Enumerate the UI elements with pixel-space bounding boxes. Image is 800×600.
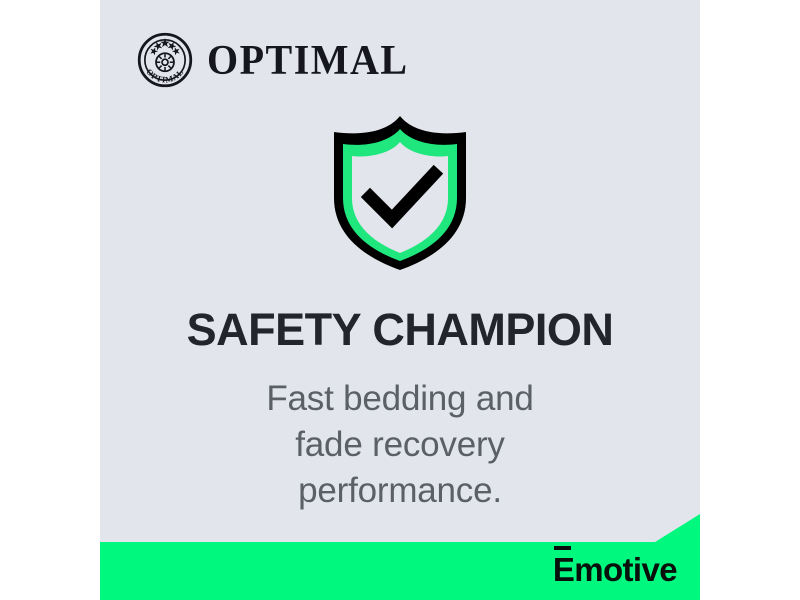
subcopy-line-2: fade recovery	[100, 422, 700, 468]
emotive-wordmark-rest: motive	[574, 553, 677, 586]
promo-card: OPTIMAL OPTIMAL	[100, 0, 700, 600]
emotive-wordmark: Emotive	[553, 553, 677, 586]
screenshot-root: OPTIMAL OPTIMAL	[0, 0, 800, 600]
brand-wordmark: OPTIMAL	[207, 39, 409, 81]
page-title: SAFETY CHAMPION	[100, 306, 700, 353]
subcopy-line-1: Fast bedding and	[100, 376, 700, 422]
hero-icon-wrap	[100, 112, 700, 274]
emotive-wordmark-e: E	[553, 553, 574, 586]
subcopy-block: Fast bedding and fade recovery performan…	[100, 376, 700, 515]
shield-check-icon	[324, 112, 476, 274]
subcopy-line-3: performance.	[100, 468, 700, 514]
footer-banner: Emotive	[100, 512, 700, 600]
optimal-badge-icon: OPTIMAL	[137, 32, 193, 88]
brand-lockup: OPTIMAL OPTIMAL	[137, 32, 409, 88]
